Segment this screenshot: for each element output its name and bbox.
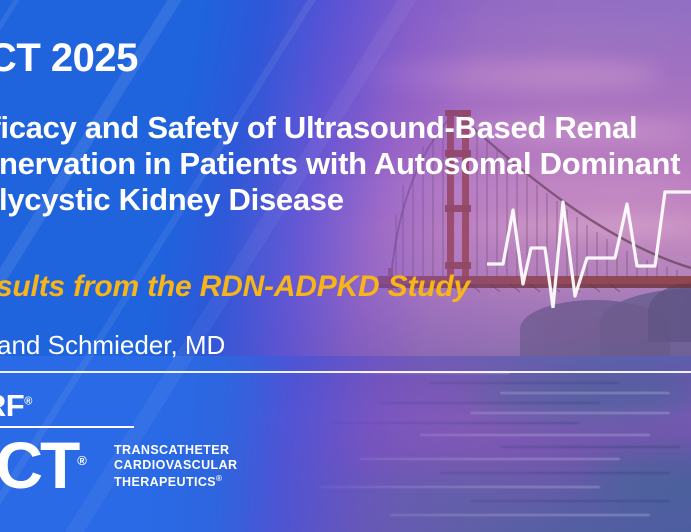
presenter-name: Roland Schmieder, MD (0, 330, 225, 361)
horizontal-divider (0, 371, 691, 373)
tagline-line-2: CARDIOVASCULAR (114, 458, 237, 473)
logo-lockup: CRF® TCT® TRANSCATHETER CARDIOVASCULAR T… (0, 388, 292, 498)
page-title: Efficacy and Safety of Ultrasound-Based … (0, 110, 691, 218)
study-subtitle: Results from the RDN-ADPKD Study (0, 270, 470, 304)
registered-mark-icon: ® (77, 453, 87, 468)
tagline-line-1: TRANSCATHETER (114, 443, 237, 458)
tct-logo: TCT® (0, 428, 87, 498)
tct-tagline: TRANSCATHETER CARDIOVASCULAR THERAPEUTIC… (114, 443, 237, 490)
tagline-line-3: THERAPEUTICS® (114, 472, 237, 490)
crf-logo: CRF® (0, 388, 32, 424)
event-year-heading: TCT 2025 (0, 36, 138, 81)
registered-mark-icon: ® (24, 396, 32, 408)
presentation-title-slide: TCT 2025 Efficacy and Safety of Ultrasou… (0, 0, 691, 532)
crf-logo-text: CRF (0, 388, 24, 423)
tagline-line-3-text: THERAPEUTICS (114, 475, 216, 489)
tct-logo-text: TCT (0, 428, 77, 502)
title-line-1: Efficacy and Safety of Ultrasound-Based … (0, 110, 691, 146)
registered-mark-icon: ® (216, 474, 222, 483)
title-line-3: Polycystic Kidney Disease (0, 182, 691, 218)
title-line-2: Denervation in Patients with Autosomal D… (0, 146, 691, 182)
